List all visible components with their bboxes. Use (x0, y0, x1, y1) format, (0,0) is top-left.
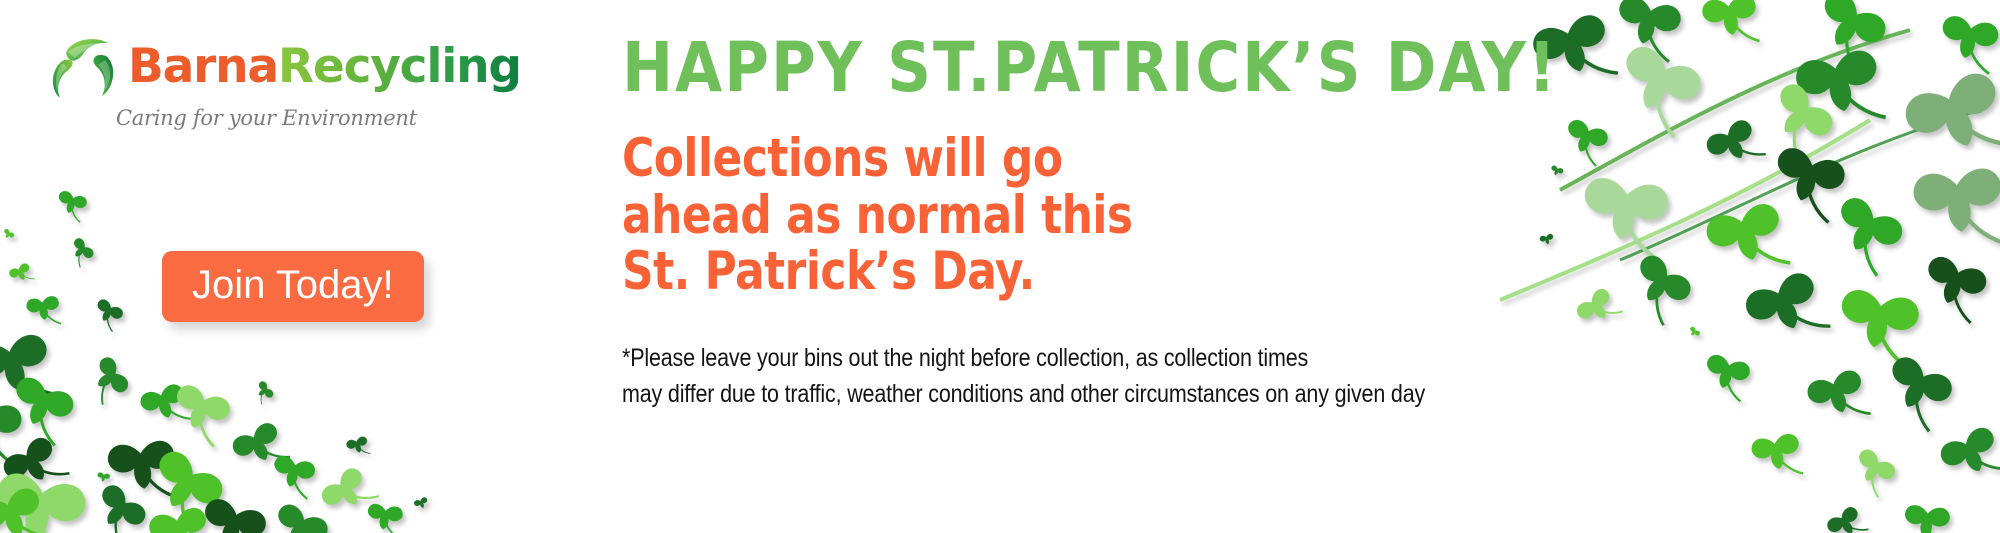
logo-wordmark: BarnaRecycling (128, 43, 521, 90)
st-patricks-day-banner: BarnaRecycling Caring for your Environme… (0, 0, 2000, 533)
headline: HAPPY ST.PATRICK’S DAY! (622, 34, 1542, 102)
disclaimer-line: may differ due to traffic, weather condi… (622, 377, 1413, 413)
subheadline: Collections will go ahead as normal this… (622, 131, 1468, 301)
subheadline-line: St. Patrick’s Day. (622, 244, 1468, 301)
logo-row: BarnaRecycling (44, 28, 444, 104)
logo-tagline: Caring for your Environment (116, 106, 444, 130)
logo-word-recycling: Recycling (278, 39, 521, 94)
recycling-leaves-icon (44, 30, 122, 102)
join-today-button[interactable]: Join Today! (162, 251, 424, 322)
disclaimer-text: *Please leave your bins out the night be… (622, 341, 1413, 412)
brand-logo[interactable]: BarnaRecycling Caring for your Environme… (44, 28, 444, 130)
disclaimer-line: *Please leave your bins out the night be… (622, 341, 1413, 377)
subheadline-line: ahead as normal this (622, 188, 1468, 245)
message-column: HAPPY ST.PATRICK’S DAY! Collections will… (622, 34, 1542, 412)
subheadline-line: Collections will go (622, 131, 1468, 188)
logo-word-barna: Barna (128, 39, 278, 94)
